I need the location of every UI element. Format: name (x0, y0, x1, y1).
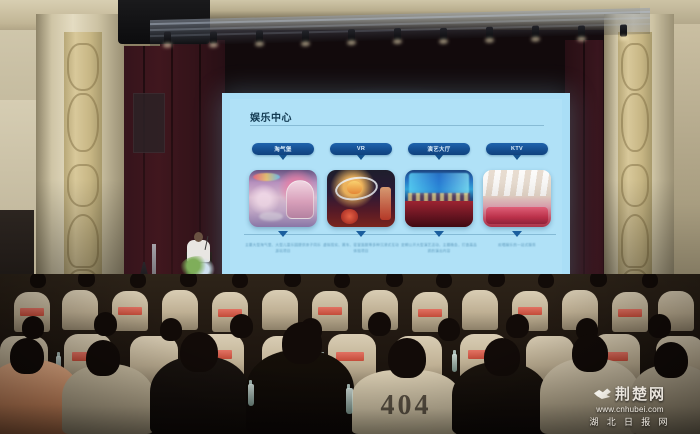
audience-head (284, 274, 301, 287)
audience-head (648, 314, 671, 338)
connector-caret (278, 231, 288, 237)
audience-head (488, 274, 505, 287)
seat-placard (118, 307, 142, 315)
watermark-subtitle: 湖 北 日 报 网 (568, 415, 692, 428)
audience-head (538, 274, 554, 288)
audience-head (130, 274, 146, 288)
slide-image-ktv (483, 170, 551, 227)
slide-caption-1: 主要大型淘气堡、大型儿童乐园提供亲子同乐游玩项目 (244, 242, 322, 254)
stage-light (256, 30, 263, 42)
ornate-pilaster-left (36, 14, 124, 314)
water-bottle (248, 384, 254, 406)
pill-caret (357, 155, 365, 160)
stage-light (302, 30, 309, 42)
shirt-number-text: 404 (352, 390, 460, 422)
presenter-head (194, 232, 203, 242)
slide-caption-4: 欢唱娱乐的一站式服务 (478, 242, 556, 248)
audience-head (572, 334, 608, 372)
audience-head (386, 274, 403, 287)
audience-head (334, 274, 350, 288)
screenshot-root: 娱乐中心 淘气堡 VR 演艺大厅 KTV (0, 0, 700, 434)
audience-head (10, 338, 44, 374)
chair (462, 290, 498, 330)
audience-head (232, 274, 248, 288)
stage-light (486, 27, 493, 39)
slide-category-pill-2: VR (330, 143, 392, 155)
audience-head (86, 340, 120, 376)
audience-head (368, 312, 391, 336)
stage-light (532, 26, 539, 38)
watermark-brand: 荆楚网 (615, 383, 666, 404)
audience-head (506, 314, 529, 338)
audience-head (436, 274, 452, 288)
stage-light (620, 24, 627, 36)
pill-label: 演艺大厅 (427, 145, 450, 153)
audience-head (180, 274, 197, 287)
slide-category-pill-1: 淘气堡 (252, 143, 314, 155)
pill-label: 淘气堡 (274, 145, 291, 153)
slide-category-pill-4: KTV (486, 143, 548, 155)
seat-placard (20, 308, 44, 316)
water-bottle (346, 388, 353, 414)
water-bottle (452, 354, 457, 372)
stage-light (394, 28, 401, 40)
watermark-url: www.cnhubei.com (568, 405, 692, 414)
connector-caret (434, 231, 444, 237)
seat-placard (418, 309, 442, 317)
audience-head (484, 338, 520, 376)
slide-image-playground (249, 170, 317, 227)
audience-head (654, 342, 688, 378)
audience-head (180, 332, 218, 372)
audience-head (282, 322, 322, 364)
seat-placard (336, 352, 364, 361)
audience-head (160, 318, 182, 341)
audience-head (590, 274, 607, 287)
stage-light (578, 25, 585, 37)
audience-head (230, 314, 253, 338)
slide-caption-2: 虚拟现实、赛车、密室逃脱等多种沉浸式互动体验项目 (322, 242, 400, 254)
pill-label: KTV (511, 146, 523, 152)
slide-canvas: 娱乐中心 淘气堡 VR 演艺大厅 KTV (230, 99, 562, 287)
slide-title: 娱乐中心 (250, 109, 292, 124)
pill-label: VR (357, 146, 365, 152)
pill-caret (435, 155, 443, 160)
pill-caret (513, 155, 521, 160)
seat-placard (318, 307, 342, 315)
phoenix-logo-icon (594, 388, 611, 400)
projection-screen: 娱乐中心 淘气堡 VR 演艺大厅 KTV (222, 93, 570, 293)
watermark: 荆楚网 www.cnhubei.com 湖 北 日 报 网 (568, 383, 692, 428)
stage-light (164, 32, 171, 44)
audience-head (22, 316, 44, 339)
stage-light (440, 28, 447, 40)
chair (62, 290, 98, 330)
slide-caption-3: 定期公开大型演艺活动、主题晚会，打造高品质的演出内容 (400, 242, 478, 254)
audience-head (388, 338, 426, 378)
slide-image-vr (327, 170, 395, 227)
audience-head (94, 312, 117, 336)
seat-placard (618, 309, 642, 317)
audience-head (78, 274, 95, 287)
presentation-slide: 娱乐中心 淘气堡 VR 演艺大厅 KTV (222, 93, 570, 293)
ornate-pilaster-right (604, 14, 674, 314)
stage-light (210, 31, 217, 43)
stage-light (348, 29, 355, 41)
pill-caret (279, 155, 287, 160)
audience-head (438, 318, 460, 341)
connector-caret (512, 231, 522, 237)
title-divider (250, 125, 544, 126)
wall-vent-panel (133, 93, 165, 153)
slide-image-performance-hall (405, 170, 473, 227)
audience-head (30, 274, 46, 288)
slide-category-pill-3: 演艺大厅 (408, 143, 470, 155)
connector-caret (356, 231, 366, 237)
audience-shirt-with-number: 404 (352, 370, 460, 434)
audience-head (642, 274, 658, 288)
